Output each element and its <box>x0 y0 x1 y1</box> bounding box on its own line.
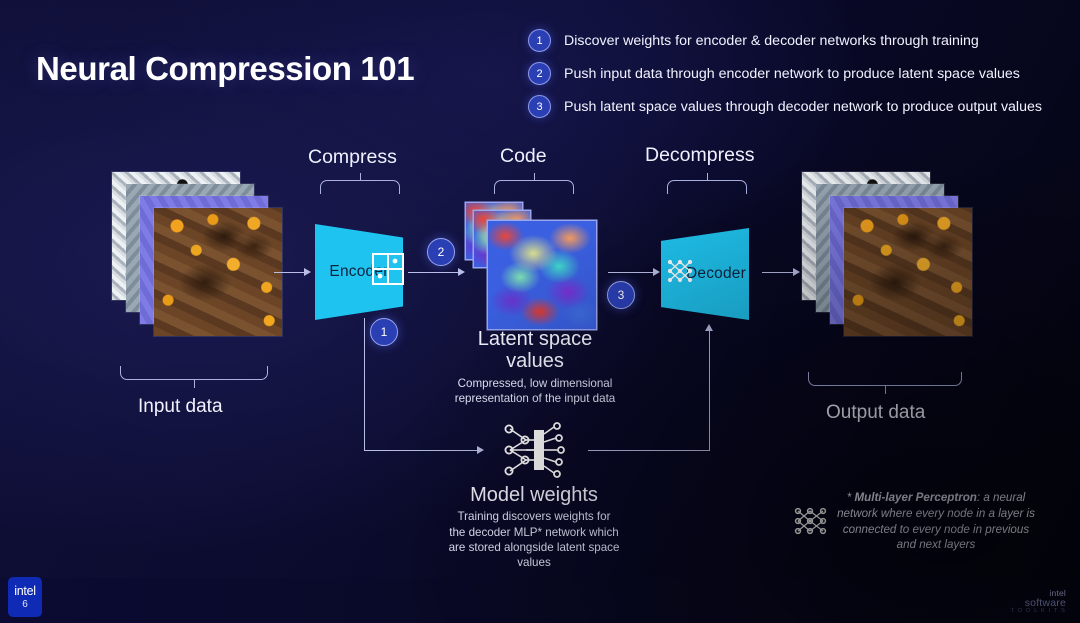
output-data-stack <box>802 172 977 337</box>
intel-software-line3: T O O L K I T S <box>1011 609 1066 615</box>
model-weights-title: Model weights <box>428 484 640 506</box>
model-weights-sub-line2: the decoder MLP* network which <box>428 525 640 540</box>
arrowhead-decoder-output <box>793 268 800 276</box>
step-badge-2: 2 <box>528 62 551 85</box>
mlp-network-icon <box>792 503 834 539</box>
connector-latent-decoder <box>608 272 656 273</box>
page-number: 6 <box>22 599 28 610</box>
page-title: Neural Compression 101 <box>36 50 414 88</box>
bracket-compress <box>320 180 400 194</box>
bracket-input-data <box>120 366 268 380</box>
list-item: 2 Push input data through encoder networ… <box>528 63 1068 84</box>
latent-title-line1: Latent space <box>440 328 630 350</box>
bracket-output-data <box>808 372 962 386</box>
intel-software-logo: intel software T O O L K I T S <box>1011 589 1066 615</box>
arrowhead-weights-in <box>477 446 484 454</box>
model-weights-sub-line4: values <box>428 555 640 570</box>
neural-network-icon <box>665 256 695 286</box>
connector-decoder-output <box>762 272 796 273</box>
list-item: 3 Push latent space values through decod… <box>528 96 1068 117</box>
latent-title-line2: values <box>440 350 630 372</box>
connector-weights-decoder-vertical <box>709 330 710 451</box>
step-text-1: Discover weights for encoder & decoder n… <box>564 33 979 49</box>
step-badge-1: 1 <box>528 29 551 52</box>
latent-sub-line2: representation of the input data <box>440 391 630 406</box>
latent-space-stack <box>466 203 606 333</box>
connector-encoder-latent <box>408 272 460 273</box>
chip-network-icon <box>500 420 568 480</box>
input-tile-rock <box>154 208 282 336</box>
footnote-term: Multi-layer Perceptron <box>854 491 976 504</box>
latent-tile-large <box>488 221 596 329</box>
step-text-3: Push latent space values through decoder… <box>564 99 1042 115</box>
slide-canvas: Neural Compression 101 1 Discover weight… <box>0 0 1080 623</box>
footer-bar <box>0 578 1080 623</box>
arrowhead-encoder-latent <box>458 268 465 276</box>
flow-badge-1: 1 <box>370 318 398 346</box>
list-item: 1 Discover weights for encoder & decoder… <box>528 30 1068 51</box>
connector-input-encoder <box>274 272 306 273</box>
intel-logo: intel 6 <box>8 577 42 617</box>
flow-badge-2: 2 <box>427 238 455 266</box>
model-weights-caption-block: Model weights Training discovers weights… <box>428 484 640 571</box>
decoder-label: Decoder <box>686 265 746 283</box>
latent-caption-block: Latent space values Compressed, low dime… <box>440 328 630 406</box>
section-label-code: Code <box>500 145 547 168</box>
latent-sub-line1: Compressed, low dimensional <box>440 376 630 391</box>
flow-badge-3: 3 <box>607 281 635 309</box>
input-data-stack <box>112 172 287 337</box>
connector-encoder-weights-vertical <box>364 318 365 451</box>
bracket-code <box>494 180 574 194</box>
model-weights-sub-line1: Training discovers weights for <box>428 509 640 524</box>
step-text-2: Push input data through encoder network … <box>564 66 1020 82</box>
input-data-caption: Input data <box>138 396 223 418</box>
arrowhead-input-encoder <box>304 268 311 276</box>
image-grid-icon <box>371 252 405 286</box>
model-weights-sub-line3: are stored alongside latent space <box>428 540 640 555</box>
connector-weights-decoder-horizontal <box>588 450 710 451</box>
intel-wordmark: intel <box>14 584 35 598</box>
section-label-compress: Compress <box>308 146 397 169</box>
arrowhead-latent-decoder <box>653 268 660 276</box>
output-tile-rock <box>844 208 972 336</box>
step-badge-3: 3 <box>528 95 551 118</box>
connector-encoder-weights-horizontal <box>364 450 478 451</box>
arrowhead-weights-decoder <box>705 324 713 331</box>
output-data-caption: Output data <box>826 402 925 424</box>
section-label-decompress: Decompress <box>645 144 754 167</box>
steps-list: 1 Discover weights for encoder & decoder… <box>528 30 1068 129</box>
footnote-text: * Multi-layer Perceptron: a neural netwo… <box>836 490 1036 553</box>
bracket-decompress <box>667 180 747 194</box>
